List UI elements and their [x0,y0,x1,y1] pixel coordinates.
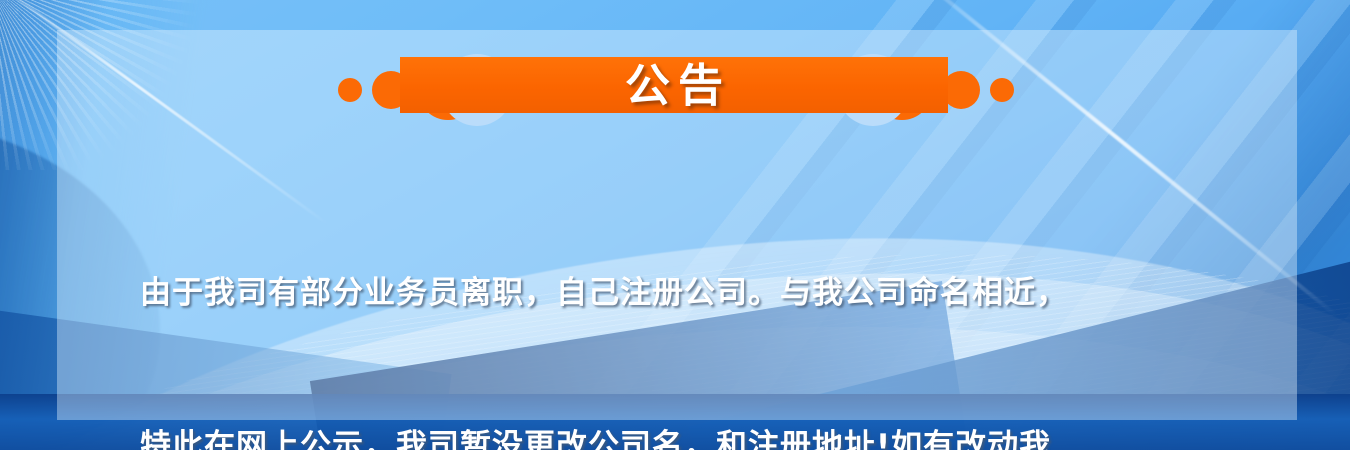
background-left-wedge-secondary [0,120,160,450]
page-title: 公告 [400,57,948,113]
decorative-dot-icon-right-small [990,78,1014,102]
announcement-line-2: 特此在网上公示，我司暂没更改公司名，和注册地址!如有改动我 [140,421,1230,450]
decorative-dot-icon-left-small [338,78,362,102]
banner-header: 公告 [0,48,1350,126]
announcement-banner: 公告 由于我司有部分业务员离职，自己注册公司。与我公司命名相近， 特此在网上公示… [0,0,1350,450]
announcement-body: 由于我司有部分业务员离职，自己注册公司。与我公司命名相近， 特此在网上公示，我司… [140,166,1230,450]
announcement-line-1: 由于我司有部分业务员离职，自己注册公司。与我公司命名相近， [140,268,1230,319]
